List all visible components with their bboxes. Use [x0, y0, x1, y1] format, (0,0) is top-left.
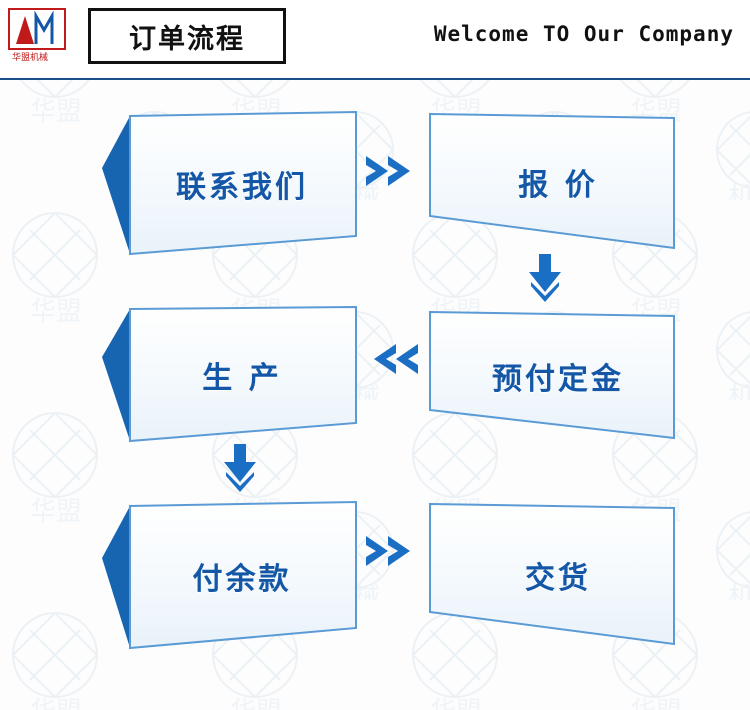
flow-node-quote: 报 价 — [428, 112, 678, 252]
flow-node-balance: 付余款 — [100, 500, 358, 652]
svg-text:华盟机械: 华盟机械 — [12, 51, 48, 63]
flowchart-page: 华盟 机械 华盟机械 订单流程 Welcome TO Our Company — [0, 0, 750, 710]
welcome-text: Welcome TO Our Company — [434, 22, 734, 46]
flow-node-produce: 生 产 — [100, 305, 358, 445]
flow-node-label: 付余款 — [193, 554, 292, 598]
flow-arrow-contact-to-quote — [362, 150, 424, 192]
flow-node-label: 报 价 — [518, 160, 597, 204]
flow-arrow-quote-to-deposit — [523, 252, 567, 308]
flow-arrow-balance-to-delivery — [362, 530, 424, 572]
flow-arrow-produce-to-balance — [218, 442, 262, 498]
page-header: 华盟机械 订单流程 Welcome TO Our Company — [0, 0, 750, 80]
flow-node-contact: 联系我们 — [100, 110, 358, 258]
flow-node-delivery: 交货 — [428, 502, 678, 648]
flow-node-deposit: 预付定金 — [428, 310, 678, 442]
flow-node-label: 生 产 — [202, 353, 281, 397]
flow-arrow-deposit-to-produce — [362, 338, 424, 380]
hm-logo-icon: 华盟机械 — [8, 8, 70, 66]
flow-node-label: 联系我们 — [176, 162, 308, 206]
page-title: 订单流程 — [129, 17, 245, 56]
flow-node-label: 交货 — [525, 553, 591, 597]
page-title-box: 订单流程 — [88, 8, 286, 64]
flow-node-label: 预付定金 — [492, 354, 624, 398]
